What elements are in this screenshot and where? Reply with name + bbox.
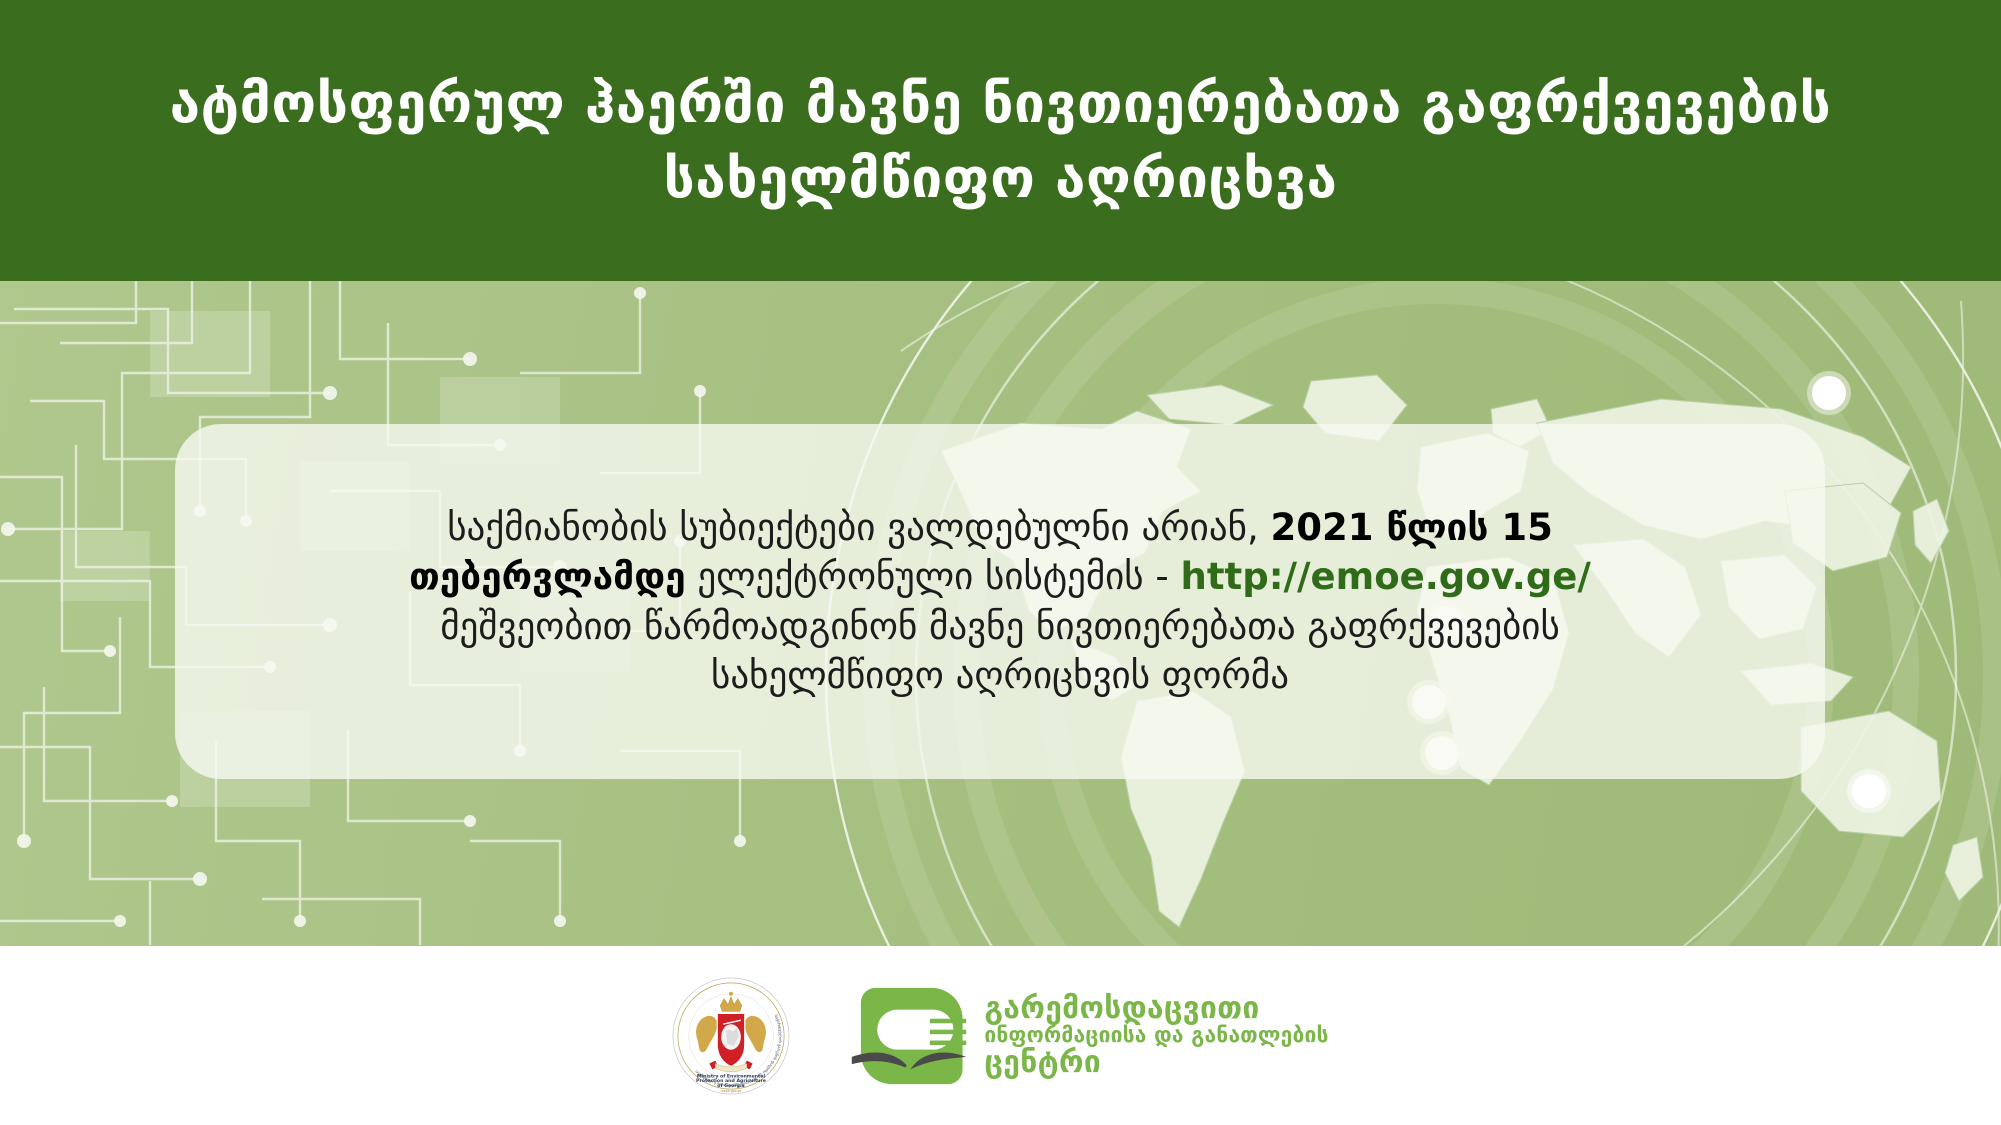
panel-text-line-3: მეშვეობით წარმოადგინონ მავნე ნივთიერებათ… (440, 602, 1560, 651)
map-pin-australia (1852, 774, 1886, 808)
panel-line2-deadline-month: თებერვლამდე (409, 555, 686, 598)
panel-text-line-4: სახელმწიფო აღრიცხვის ფორმა (711, 651, 1289, 700)
seal-website: mepa.gov.ge (721, 1089, 742, 1093)
eiec-text-line-3: ცენტრი (984, 1047, 1328, 1079)
eiec-wordmark: გარემოსდაცვითი ინფორმაციისა და განათლები… (984, 993, 1328, 1079)
eiec-leaf-book-icon (850, 982, 968, 1090)
map-pin-north (1812, 376, 1846, 410)
ministry-seal-icon: Ministry of Environmental Protection and… (672, 977, 790, 1095)
footer-logo-bar: Ministry of Environmental Protection and… (0, 946, 2001, 1125)
panel-text-line-1: საქმიანობის სუბიექტები ვალდებულნი არიან,… (447, 503, 1553, 552)
eiec-text-line-1: გარემოსდაცვითი (984, 993, 1328, 1025)
panel-text-line-2: თებერვლამდე ელექტრონული სისტემის - http:… (409, 552, 1591, 601)
eiec-logo: გარემოსდაცვითი ინფორმაციისა და განათლები… (850, 982, 1328, 1090)
main-band: საქმიანობის სუბიექტები ვალდებულნი არიან,… (0, 281, 2001, 946)
panel-line2-plain: ელექტრონული სისტემის - (686, 555, 1181, 598)
emoe-portal-link[interactable]: http://emoe.gov.ge/ (1181, 555, 1591, 598)
panel-line1-deadline-year: 2021 წლის 15 (1270, 506, 1552, 549)
content-panel: საქმიანობის სუბიექტები ვალდებულნი არიან,… (175, 424, 1825, 779)
page-title-line-1: ატმოსფერულ ჰაერში მავნე ნივთიერებათა გაფ… (170, 68, 1832, 138)
panel-line1-plain: საქმიანობის სუბიექტები ვალდებულნი არიან, (447, 506, 1270, 549)
page-title-line-2: სახელმწიფო აღრიცხვა (663, 143, 1337, 213)
eiec-mark-icon (850, 982, 968, 1090)
eiec-text-line-2: ინფორმაციისა და განათლების (984, 1024, 1328, 1046)
header-banner: ატმოსფერულ ჰაერში მავნე ნივთიერებათა გაფ… (0, 0, 2001, 281)
ministry-seal-logo: Ministry of Environmental Protection and… (672, 977, 790, 1095)
